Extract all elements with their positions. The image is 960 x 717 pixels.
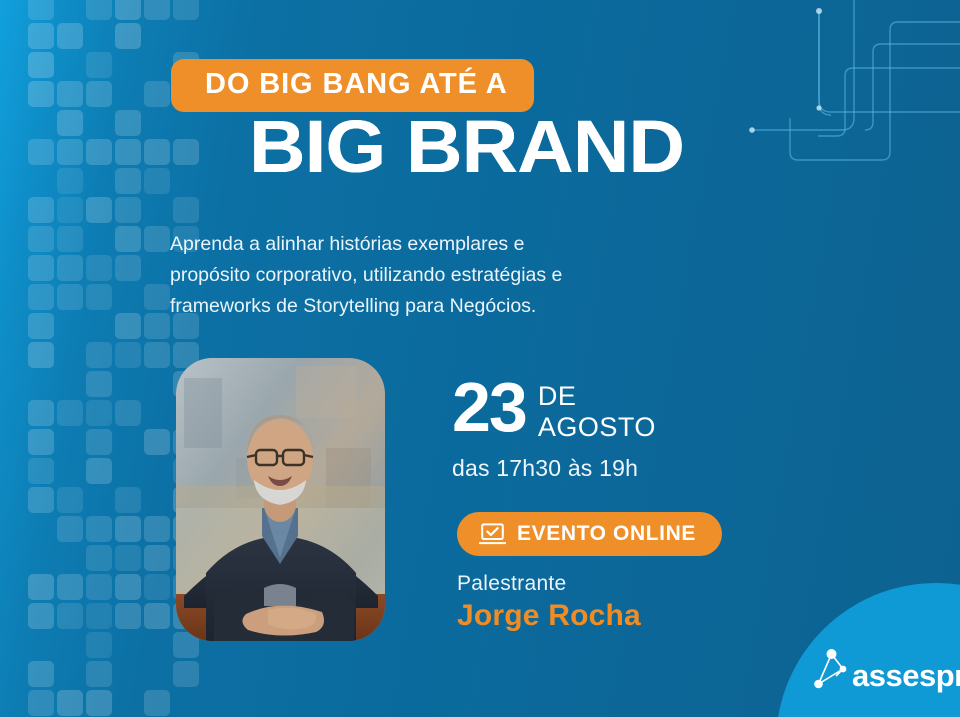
event-month: AGOSTO [538,412,656,443]
evento-online-label: EVENTO ONLINE [517,522,696,546]
event-date-block: 23 DE AGOSTO das 17h30 às 19h [452,377,782,482]
speaker-name: Jorge Rocha [457,599,641,633]
description-line-2: propósito corporativo, utilizando estrat… [170,260,700,291]
speaker-portrait-illustration [176,358,385,641]
left-mosaic-squares [0,0,160,717]
headline-tag-text: DO BIG BANG ATÉ A [205,70,508,99]
evento-online-button[interactable]: EVENTO ONLINE [457,512,722,556]
assespro-wordmark: assespro [852,660,960,691]
assespro-node-a-icon [812,645,850,691]
speaker-info: Palestrante Jorge Rocha [457,572,641,633]
speaker-photo [176,358,385,641]
assespro-logo: assespro MG [812,645,960,691]
event-time: das 17h30 às 19h [452,455,782,482]
speaker-role-label: Palestrante [457,572,641,596]
description-line-3: frameworks de Storytelling para Negócios… [170,291,700,322]
laptop-check-icon [479,523,506,545]
description-line-1: Aprenda a alinhar histórias exemplares e [170,229,700,260]
description-text: Aprenda a alinhar histórias exemplares e… [170,229,700,322]
event-poster: DO BIG BANG ATÉ A BIG BRAND Aprenda a al… [0,0,960,717]
top-right-circuit-lines [700,0,960,220]
event-day-number: 23 [452,377,526,439]
event-date-preposition: DE [538,381,656,412]
page-title: BIG BRAND [249,110,684,184]
